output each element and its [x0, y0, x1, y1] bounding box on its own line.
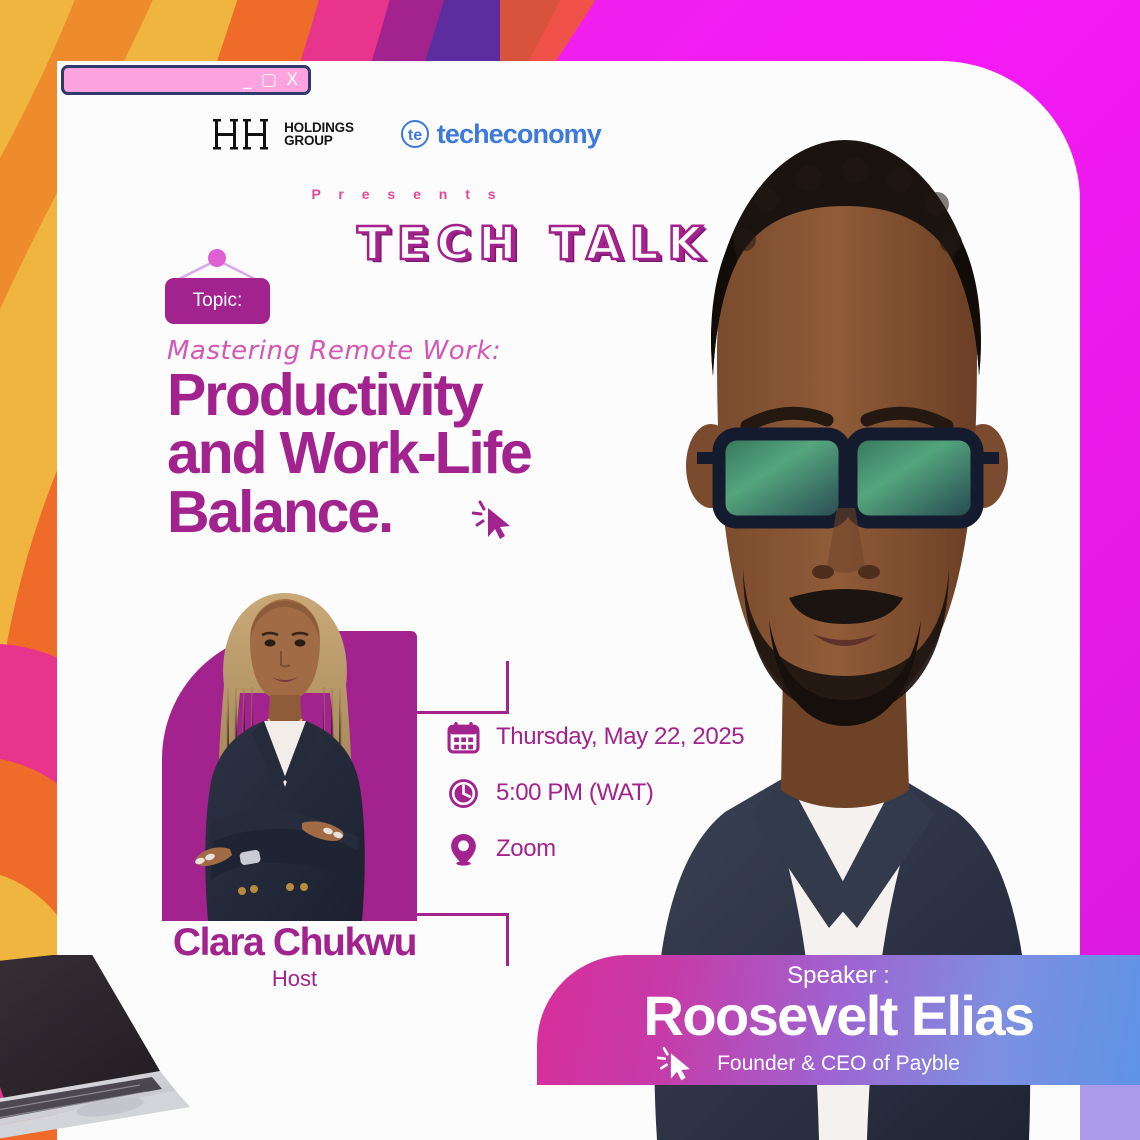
rec-dot-icon: [850, 201, 859, 210]
show-title-wrap: TECH TALK LIVE REC: [357, 221, 883, 266]
headline-line-2: and Work-Life: [167, 424, 531, 482]
holdings-group-logo: HOLDINGS GROUP: [213, 117, 354, 151]
detail-time-text: 5:00 PM (WAT): [496, 779, 653, 807]
detail-location-text: Zoom: [496, 835, 556, 863]
topic-badge-wrap: Topic:: [165, 248, 305, 323]
detail-row-date: Thursday, May 22, 2025: [447, 709, 744, 765]
window-controls[interactable]: _ ▢ X: [243, 72, 300, 89]
topic-badge: Topic:: [165, 278, 270, 324]
rec-label: REC: [862, 199, 887, 211]
speaker-banner: Speaker : Roosevelt Elias Founder & CEO …: [537, 955, 1140, 1085]
presents-label: P r e s e n t s: [57, 186, 757, 202]
clock-icon: [447, 777, 480, 810]
speaker-title: Founder & CEO of Payble: [537, 1052, 1140, 1076]
window-titlebar[interactable]: _ ▢ X: [61, 65, 311, 95]
speaker-name: Roosevelt Elias: [537, 985, 1140, 1047]
event-details-list: Thursday, May 22, 2025 5:00 PM (WAT) Zoo…: [447, 709, 744, 877]
detail-row-location: Zoom: [447, 821, 744, 877]
rec-badge: REC: [850, 199, 887, 211]
techeconomy-logo: te techeconomy: [400, 119, 601, 150]
details-bracket-stem-top: [506, 661, 509, 713]
cursor-click-icon-2: [657, 1043, 697, 1083]
location-pin-icon: [447, 833, 480, 866]
techeconomy-wordmark: techeconomy: [437, 119, 601, 150]
svg-text:te: te: [408, 127, 422, 144]
show-title: TECH TALK LIVE: [357, 221, 883, 266]
detail-row-time: 5:00 PM (WAT): [447, 765, 744, 821]
host-photo: [152, 573, 417, 921]
laptop-image: [0, 955, 290, 1140]
cursor-click-icon: [472, 496, 518, 542]
calendar-icon: [447, 721, 480, 754]
techeconomy-mark-icon: te: [400, 119, 430, 149]
topic-badge-label: Topic:: [193, 290, 243, 312]
headline-line-1: Productivity: [167, 366, 531, 424]
logo-row: HOLDINGS GROUP te techeconomy: [57, 117, 757, 151]
detail-date-text: Thursday, May 22, 2025: [496, 723, 744, 751]
hh-monogram-icon: [213, 117, 279, 151]
holdings-label-2: GROUP: [284, 134, 354, 147]
